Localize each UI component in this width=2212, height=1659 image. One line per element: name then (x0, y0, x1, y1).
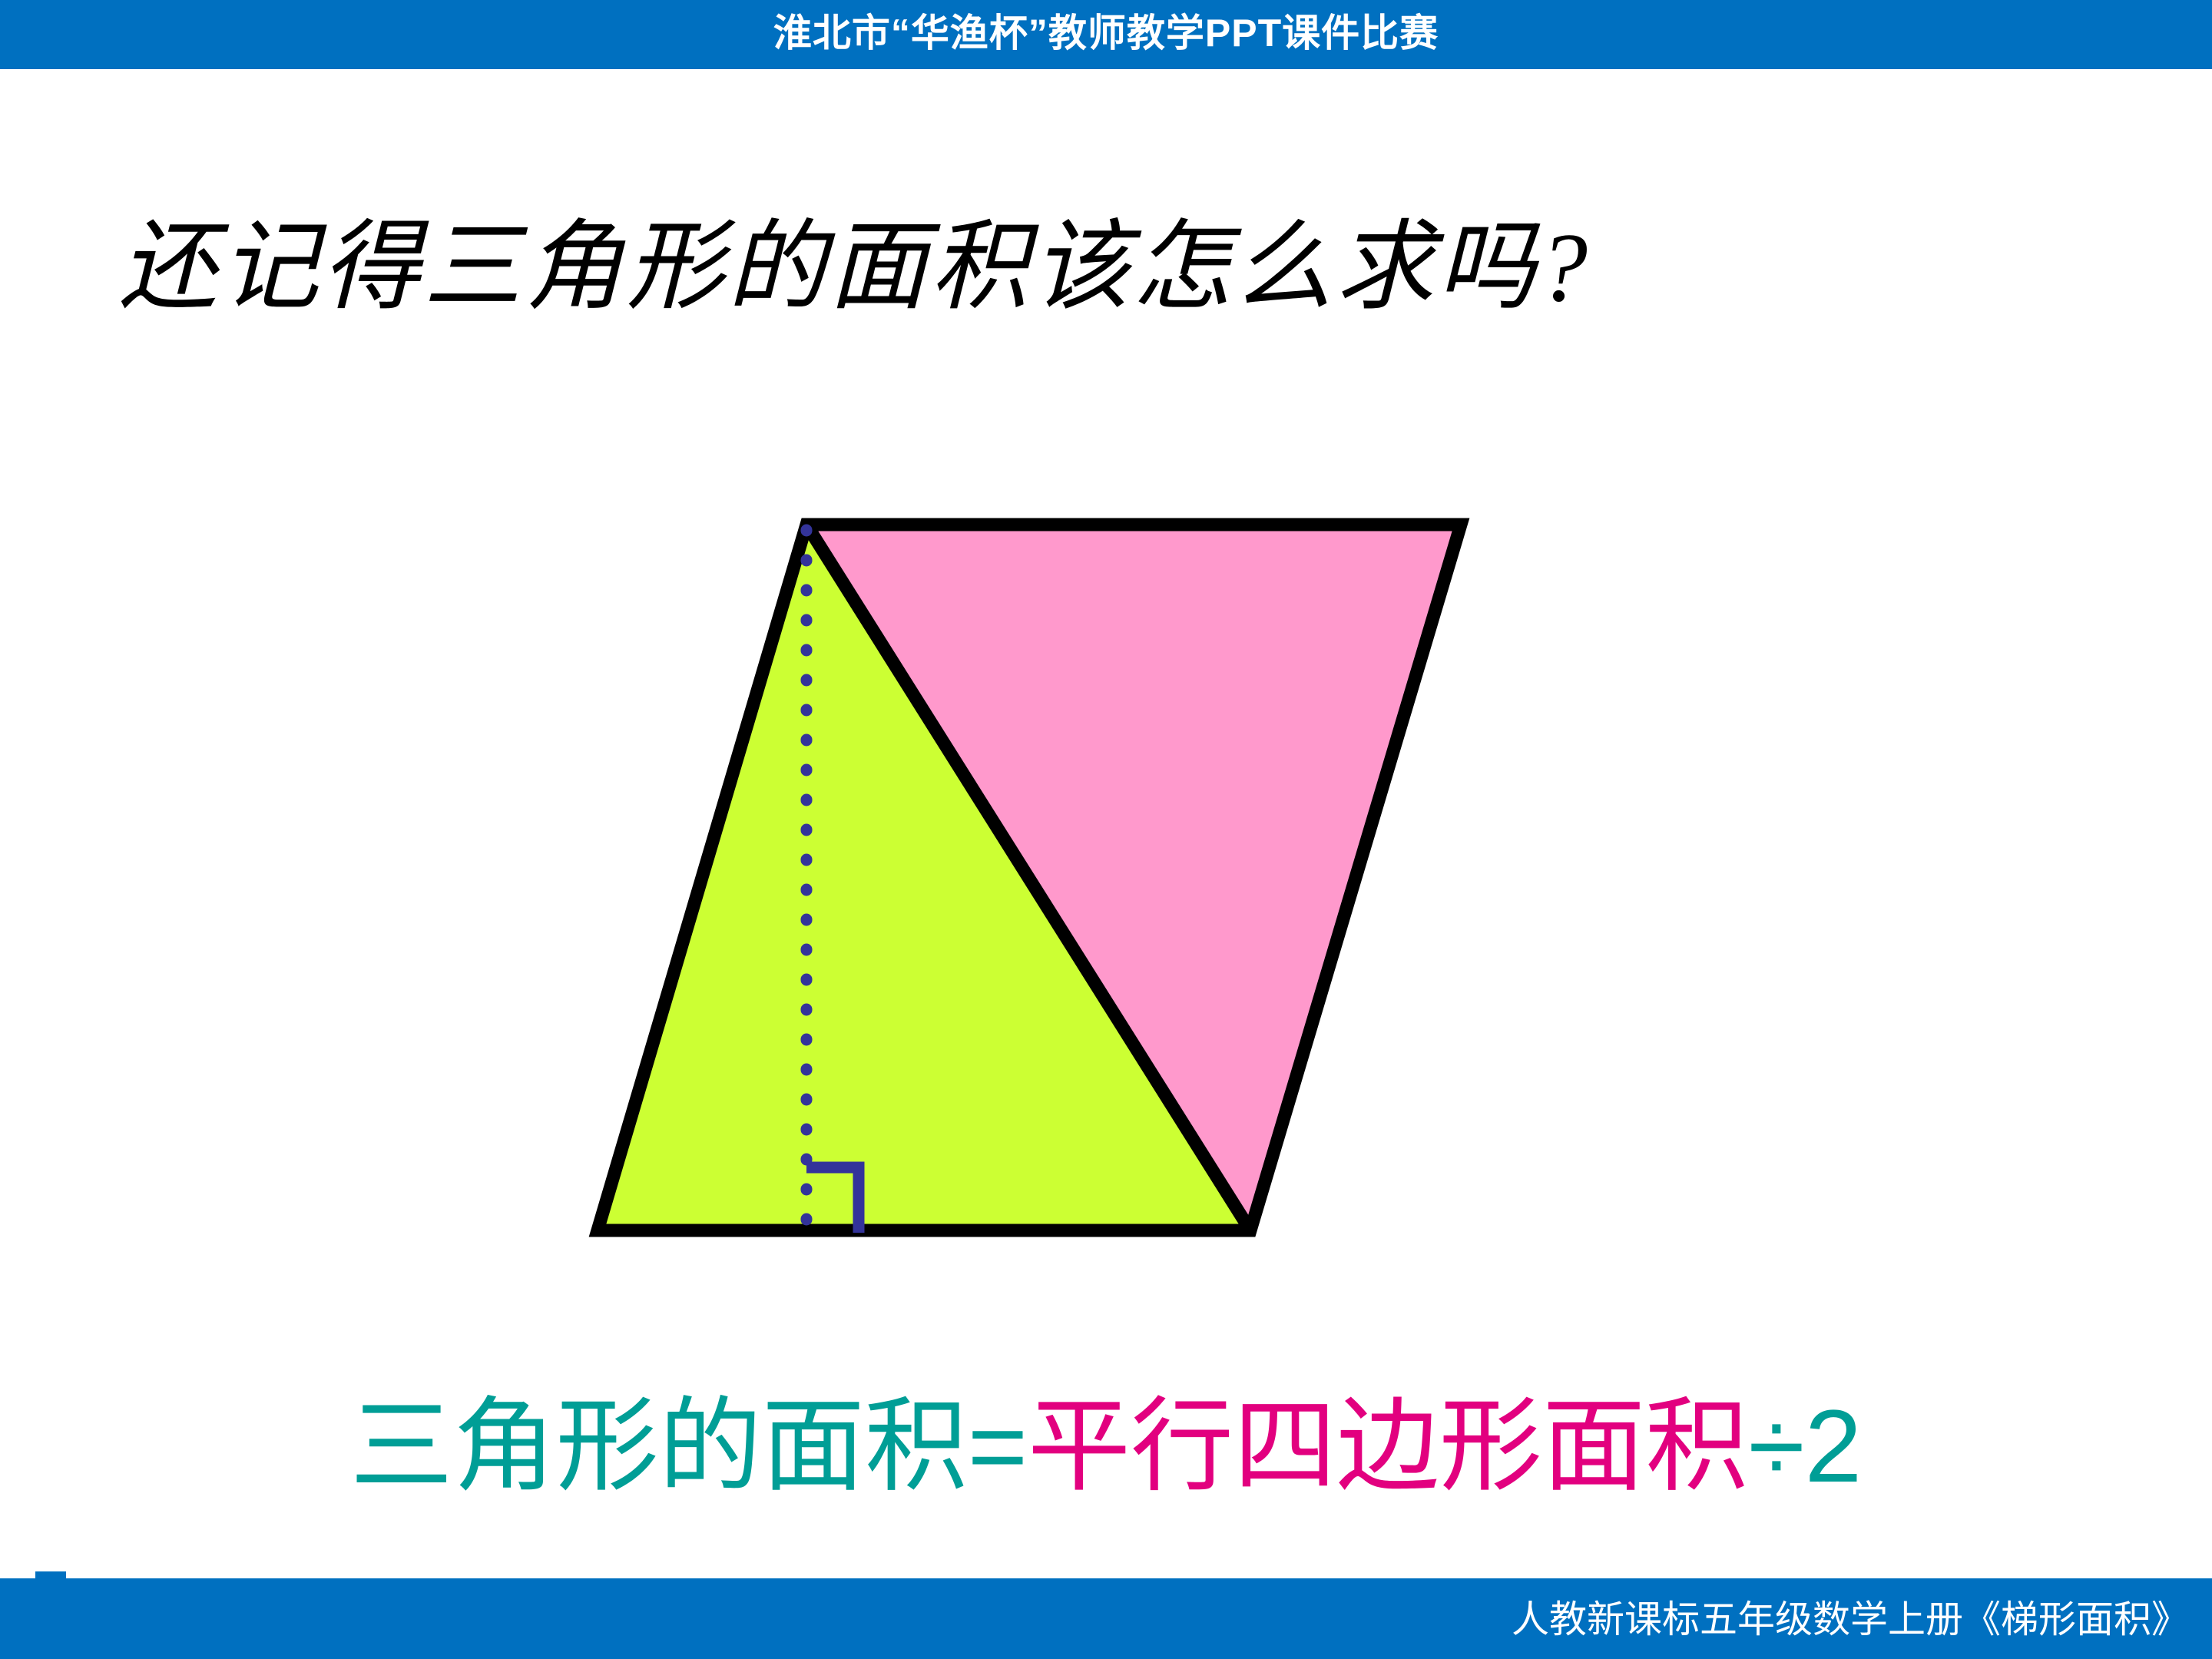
formula-part-parallelogram-area: 平行四边形面积 (1028, 1389, 1748, 1504)
footer-banner: 人教新课标五年级数学上册《梯形面积》 (0, 1578, 2212, 1659)
footer-text: 人教新课标五年级数学上册《梯形面积》 (1512, 1601, 2212, 1639)
geometry-figure (538, 476, 1551, 1298)
formula-part-triangle-area: 三角形的面积= (350, 1389, 1028, 1504)
slide-canvas: 淮北市“华渔杯”教师教学PPT课件比赛 还记得三角形的面积该怎么求吗? 三角形的… (0, 0, 2212, 1659)
formula-part-divide-two: ÷2 (1748, 1389, 1862, 1504)
header-title: 淮北市“华渔杯”教师教学PPT课件比赛 (773, 14, 1439, 52)
parallelogram-diagram (538, 476, 1551, 1298)
area-formula: 三角形的面积=平行四边形面积÷2 (0, 1382, 2212, 1512)
page-title: 还记得三角形的面积该怎么求吗? (119, 211, 1591, 324)
header-banner: 淮北市“华渔杯”教师教学PPT课件比赛 (0, 0, 2212, 69)
